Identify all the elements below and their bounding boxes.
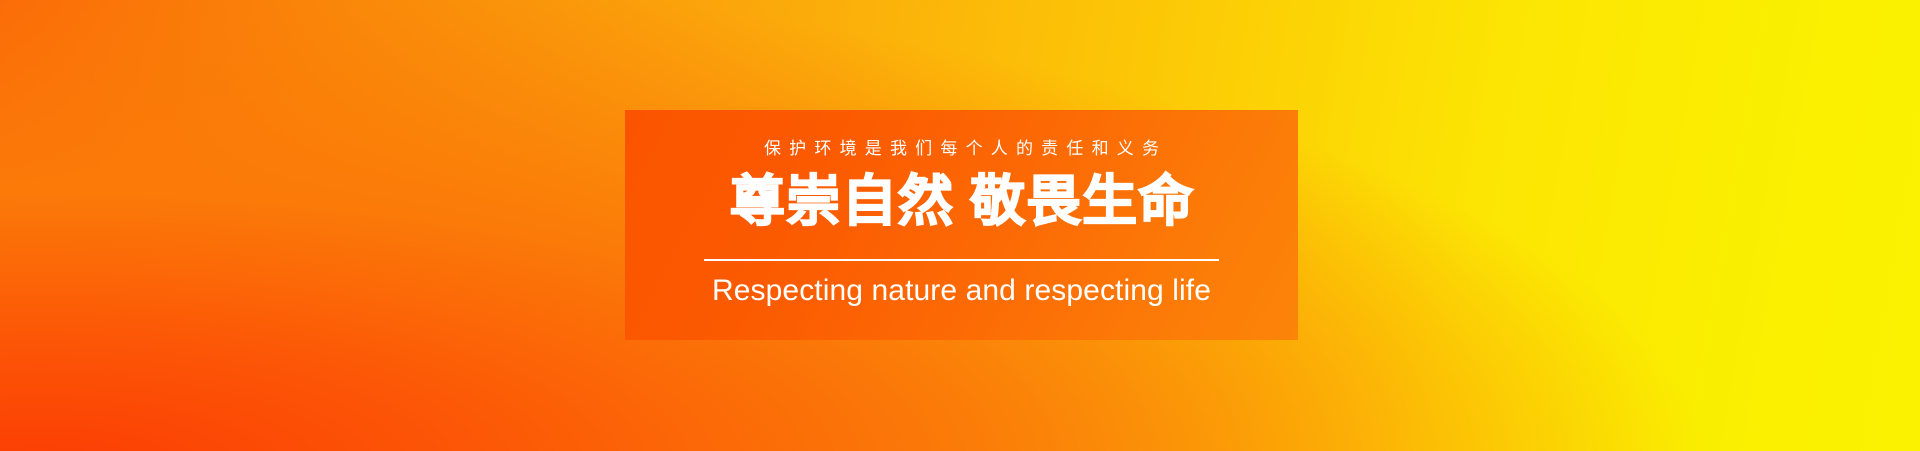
environment-slogan-banner: 保护环境是我们每个人的责任和义务 尊崇自然 敬畏生命 Respecting na… [0,0,1920,451]
slogan-panel-content: 保护环境是我们每个人的责任和义务 尊崇自然 敬畏生命 Respecting na… [702,110,1221,340]
panel-headline: 尊崇自然 敬畏生命 [702,170,1221,232]
slogan-panel: 保护环境是我们每个人的责任和义务 尊崇自然 敬畏生命 Respecting na… [625,110,1298,340]
panel-divider [704,259,1219,261]
panel-subtitle: 保护环境是我们每个人的责任和义务 [702,138,1221,160]
panel-tagline-english: Respecting nature and respecting life [702,271,1221,311]
